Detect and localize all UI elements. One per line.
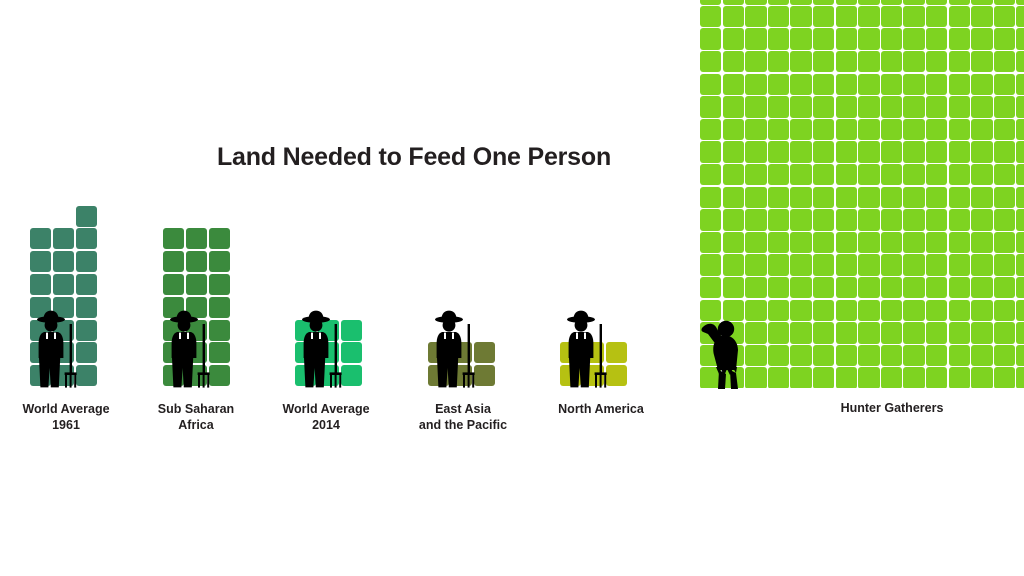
land-square: [926, 187, 947, 208]
land-square: [903, 6, 924, 27]
farmer-icon: [167, 310, 211, 388]
category-group-world-average-2014: [295, 320, 363, 388]
category-group-east-asia-and-the-pacific: [428, 342, 496, 388]
land-square: [881, 277, 902, 298]
land-square: [949, 300, 970, 321]
land-square: [790, 254, 811, 275]
land-square: [949, 209, 970, 230]
farmer-icon: [299, 310, 343, 388]
land-square: [209, 342, 230, 363]
land-square: [926, 254, 947, 275]
land-square: [836, 96, 857, 117]
land-square: [1016, 6, 1024, 27]
land-square: [790, 232, 811, 253]
chart-title: Land Needed to Feed One Person: [0, 143, 828, 172]
land-square: [994, 300, 1015, 321]
land-square: [949, 345, 970, 366]
land-square: [971, 277, 992, 298]
land-square: [858, 209, 879, 230]
land-square: [881, 232, 902, 253]
land-square: [903, 367, 924, 388]
land-square: [1016, 322, 1024, 343]
land-square: [949, 277, 970, 298]
land-square: [813, 232, 834, 253]
farmer-icon: [432, 310, 476, 388]
category-label-line1: North America: [491, 401, 711, 417]
land-square: [836, 254, 857, 275]
land-square: [858, 254, 879, 275]
land-square: [813, 0, 834, 5]
land-square: [745, 300, 766, 321]
land-square: [745, 119, 766, 140]
land-square: [858, 277, 879, 298]
land-square: [994, 96, 1015, 117]
land-square: [1016, 74, 1024, 95]
land-square: [813, 187, 834, 208]
land-square: [30, 251, 51, 272]
land-square: [186, 274, 207, 295]
land-square: [790, 345, 811, 366]
land-square: [76, 274, 97, 295]
land-square: [768, 367, 789, 388]
hunter-gatherers-grid: [700, 0, 1024, 388]
land-square: [723, 119, 744, 140]
land-square: [971, 6, 992, 27]
land-square: [768, 254, 789, 275]
land-square: [836, 51, 857, 72]
land-square: [723, 0, 744, 5]
land-square: [949, 367, 970, 388]
farmer-icon: [34, 310, 78, 388]
land-square: [881, 367, 902, 388]
land-square: [949, 187, 970, 208]
land-square: [971, 96, 992, 117]
land-square: [53, 274, 74, 295]
land-square: [700, 0, 721, 5]
land-square: [949, 164, 970, 185]
land-square: [881, 345, 902, 366]
land-square: [209, 297, 230, 318]
land-square: [30, 274, 51, 295]
land-square: [881, 187, 902, 208]
land-square: [53, 251, 74, 272]
land-square: [76, 228, 97, 249]
land-square: [163, 251, 184, 272]
land-square: [745, 277, 766, 298]
land-square: [723, 209, 744, 230]
land-square: [971, 367, 992, 388]
land-square: [926, 164, 947, 185]
land-square: [1016, 119, 1024, 140]
land-square: [971, 74, 992, 95]
land-square: [903, 0, 924, 5]
land-square: [971, 232, 992, 253]
land-square: [949, 74, 970, 95]
land-square: [1016, 0, 1024, 5]
land-square: [881, 164, 902, 185]
land-square: [209, 228, 230, 249]
land-square: [949, 141, 970, 162]
land-square: [836, 300, 857, 321]
land-square: [768, 277, 789, 298]
land-square: [76, 297, 97, 318]
land-square: [926, 6, 947, 27]
land-square: [858, 232, 879, 253]
land-square: [790, 209, 811, 230]
land-square: [790, 300, 811, 321]
land-square: [790, 28, 811, 49]
land-square: [994, 254, 1015, 275]
land-square: [926, 74, 947, 95]
land-square: [813, 96, 834, 117]
land-square: [994, 6, 1015, 27]
land-square: [723, 187, 744, 208]
land-square: [1016, 141, 1024, 162]
land-square: [926, 51, 947, 72]
land-square: [723, 6, 744, 27]
land-square: [1016, 164, 1024, 185]
land-square: [768, 209, 789, 230]
land-square: [971, 300, 992, 321]
land-square: [768, 6, 789, 27]
land-square: [790, 51, 811, 72]
land-square: [926, 0, 947, 5]
land-square: [994, 209, 1015, 230]
land-square: [836, 209, 857, 230]
land-square: [994, 119, 1015, 140]
land-square: [790, 367, 811, 388]
land-square: [971, 209, 992, 230]
land-square: [858, 141, 879, 162]
land-square: [858, 119, 879, 140]
land-square: [971, 345, 992, 366]
land-square: [836, 345, 857, 366]
land-square: [949, 254, 970, 275]
category-label-line2: and the Pacific: [353, 417, 573, 433]
land-square: [1016, 96, 1024, 117]
hunter-gatherers-label: Hunter Gatherers: [700, 401, 1024, 415]
land-square: [1016, 51, 1024, 72]
land-square: [881, 74, 902, 95]
land-square: [858, 345, 879, 366]
land-square: [790, 0, 811, 5]
land-square: [700, 51, 721, 72]
land-square: [971, 254, 992, 275]
land-square: [858, 187, 879, 208]
land-square: [768, 232, 789, 253]
land-square: [836, 141, 857, 162]
land-square: [1016, 367, 1024, 388]
land-square: [723, 51, 744, 72]
land-square: [994, 232, 1015, 253]
infographic-canvas: Hunter Gatherers Land Needed to Feed One…: [0, 0, 1024, 576]
land-square: [926, 209, 947, 230]
land-square: [813, 51, 834, 72]
land-square: [949, 51, 970, 72]
land-square: [723, 254, 744, 275]
land-square: [790, 187, 811, 208]
land-square: [926, 345, 947, 366]
land-square: [881, 141, 902, 162]
land-square: [813, 74, 834, 95]
land-square: [994, 28, 1015, 49]
land-square: [209, 320, 230, 341]
land-square: [949, 96, 970, 117]
land-square: [926, 367, 947, 388]
land-square: [723, 232, 744, 253]
land-square: [790, 277, 811, 298]
land-square: [971, 164, 992, 185]
land-square: [903, 164, 924, 185]
land-square: [745, 209, 766, 230]
land-square: [790, 96, 811, 117]
land-square: [858, 164, 879, 185]
land-square: [813, 277, 834, 298]
land-square: [700, 209, 721, 230]
land-square: [971, 0, 992, 5]
land-square: [745, 345, 766, 366]
land-square: [836, 322, 857, 343]
land-square: [836, 6, 857, 27]
land-square: [858, 74, 879, 95]
land-square: [53, 228, 74, 249]
land-square: [76, 206, 97, 227]
land-square: [903, 232, 924, 253]
land-square: [926, 300, 947, 321]
land-square: [723, 277, 744, 298]
land-square: [836, 232, 857, 253]
land-square: [836, 187, 857, 208]
land-square: [813, 345, 834, 366]
land-square: [768, 322, 789, 343]
land-square: [971, 51, 992, 72]
land-square: [723, 74, 744, 95]
land-square: [881, 300, 902, 321]
land-square: [994, 322, 1015, 343]
land-square: [186, 228, 207, 249]
land-square: [1016, 345, 1024, 366]
land-square: [341, 365, 362, 386]
land-square: [926, 119, 947, 140]
land-square: [903, 119, 924, 140]
land-square: [745, 51, 766, 72]
land-square: [813, 6, 834, 27]
land-square: [926, 232, 947, 253]
land-square: [76, 251, 97, 272]
land-square: [1016, 254, 1024, 275]
land-square: [1016, 187, 1024, 208]
land-square: [994, 367, 1015, 388]
category-group-north-america: [560, 342, 628, 388]
land-square: [836, 164, 857, 185]
land-square: [209, 365, 230, 386]
land-square: [163, 228, 184, 249]
land-square: [903, 277, 924, 298]
category-group-world-average-1961: [30, 206, 98, 388]
land-square: [881, 209, 902, 230]
land-square: [768, 0, 789, 5]
land-square: [926, 28, 947, 49]
land-square: [881, 51, 902, 72]
land-square: [881, 0, 902, 5]
land-square: [994, 0, 1015, 5]
land-square: [745, 187, 766, 208]
land-square: [994, 141, 1015, 162]
land-square: [790, 119, 811, 140]
land-square: [881, 254, 902, 275]
land-square: [768, 51, 789, 72]
land-square: [813, 209, 834, 230]
land-square: [971, 187, 992, 208]
land-square: [858, 96, 879, 117]
land-square: [994, 51, 1015, 72]
land-square: [994, 345, 1015, 366]
land-square: [858, 300, 879, 321]
land-square: [949, 28, 970, 49]
land-square: [1016, 232, 1024, 253]
land-square: [186, 251, 207, 272]
land-square: [903, 96, 924, 117]
land-square: [858, 322, 879, 343]
land-square: [341, 342, 362, 363]
land-square: [994, 187, 1015, 208]
land-square: [836, 277, 857, 298]
land-square: [813, 254, 834, 275]
land-square: [836, 28, 857, 49]
land-square: [768, 28, 789, 49]
land-square: [700, 119, 721, 140]
land-square: [606, 365, 627, 386]
land-square: [700, 96, 721, 117]
land-square: [700, 254, 721, 275]
land-square: [700, 187, 721, 208]
land-square: [903, 300, 924, 321]
land-square: [836, 367, 857, 388]
land-square: [745, 96, 766, 117]
land-square: [745, 367, 766, 388]
land-square: [971, 119, 992, 140]
farmer-icon: [564, 310, 608, 388]
land-square: [836, 119, 857, 140]
land-square: [1016, 209, 1024, 230]
category-group-sub-saharan-africa: [163, 228, 231, 388]
land-square: [903, 322, 924, 343]
land-square: [723, 28, 744, 49]
land-square: [858, 28, 879, 49]
land-square: [926, 277, 947, 298]
land-square: [209, 251, 230, 272]
land-square: [813, 300, 834, 321]
land-square: [813, 367, 834, 388]
land-square: [881, 6, 902, 27]
land-square: [700, 232, 721, 253]
land-square: [994, 277, 1015, 298]
category-label-north-america: North America: [491, 401, 711, 417]
land-square: [926, 141, 947, 162]
land-square: [1016, 28, 1024, 49]
land-square: [949, 119, 970, 140]
land-square: [926, 96, 947, 117]
land-square: [858, 51, 879, 72]
land-square: [768, 300, 789, 321]
land-square: [76, 342, 97, 363]
land-square: [768, 119, 789, 140]
land-square: [606, 342, 627, 363]
land-square: [76, 320, 97, 341]
land-square: [768, 187, 789, 208]
land-square: [971, 141, 992, 162]
land-square: [903, 209, 924, 230]
land-square: [768, 345, 789, 366]
land-square: [949, 322, 970, 343]
land-square: [745, 28, 766, 49]
land-square: [881, 28, 902, 49]
land-square: [474, 365, 495, 386]
land-square: [903, 28, 924, 49]
land-square: [723, 96, 744, 117]
land-square: [949, 0, 970, 5]
land-square: [745, 322, 766, 343]
land-square: [836, 0, 857, 5]
land-square: [858, 6, 879, 27]
land-square: [949, 6, 970, 27]
land-square: [209, 274, 230, 295]
land-square: [903, 254, 924, 275]
land-square: [858, 367, 879, 388]
land-square: [76, 365, 97, 386]
land-square: [903, 187, 924, 208]
land-square: [813, 119, 834, 140]
land-square: [1016, 300, 1024, 321]
land-square: [903, 345, 924, 366]
land-square: [903, 141, 924, 162]
land-square: [341, 320, 362, 341]
land-square: [858, 0, 879, 5]
land-square: [768, 74, 789, 95]
land-square: [790, 6, 811, 27]
land-square: [994, 164, 1015, 185]
land-square: [790, 322, 811, 343]
land-square: [949, 232, 970, 253]
land-square: [926, 322, 947, 343]
land-square: [700, 6, 721, 27]
land-square: [700, 28, 721, 49]
land-square: [971, 28, 992, 49]
land-square: [745, 232, 766, 253]
hunter-icon: [700, 318, 746, 390]
land-square: [163, 274, 184, 295]
land-square: [881, 119, 902, 140]
land-square: [30, 228, 51, 249]
land-square: [994, 74, 1015, 95]
land-square: [881, 96, 902, 117]
land-square: [745, 0, 766, 5]
land-square: [768, 96, 789, 117]
land-square: [881, 322, 902, 343]
land-square: [1016, 277, 1024, 298]
land-square: [700, 277, 721, 298]
land-square: [903, 74, 924, 95]
land-square: [971, 322, 992, 343]
land-square: [903, 51, 924, 72]
land-square: [790, 74, 811, 95]
land-square: [745, 254, 766, 275]
land-square: [745, 6, 766, 27]
land-square: [474, 342, 495, 363]
land-square: [813, 322, 834, 343]
land-square: [836, 74, 857, 95]
land-square: [700, 74, 721, 95]
